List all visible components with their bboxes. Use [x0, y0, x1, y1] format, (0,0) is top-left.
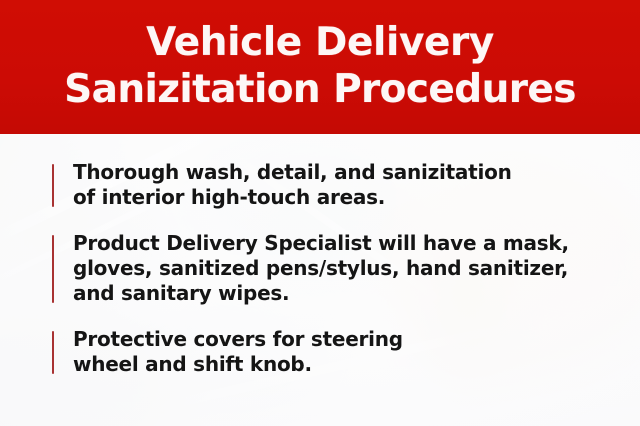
procedure-list: Thorough wash, detail, and sanizitation … — [52, 160, 612, 377]
title-banner: Vehicle Delivery Sanizitation Procedures — [0, 0, 640, 134]
list-item-text: Product Delivery Specialist will have a … — [73, 231, 612, 306]
banner-title-line-1: Vehicle Delivery — [146, 19, 494, 66]
list-item: Protective covers for steering wheel and… — [52, 327, 612, 377]
list-item: Product Delivery Specialist will have a … — [52, 231, 612, 306]
accent-bar-icon — [52, 235, 54, 303]
list-item: Thorough wash, detail, and sanizitation … — [52, 160, 612, 210]
vehicle-delivery-sanitization-graphic: Vehicle Delivery Sanizitation Procedures… — [0, 0, 640, 426]
list-item-text: Protective covers for steering wheel and… — [73, 327, 612, 377]
banner-title-line-2: Sanizitation Procedures — [64, 66, 576, 113]
list-item-text: Thorough wash, detail, and sanizitation … — [73, 160, 612, 210]
accent-bar-icon — [52, 164, 54, 207]
accent-bar-icon — [52, 331, 54, 374]
